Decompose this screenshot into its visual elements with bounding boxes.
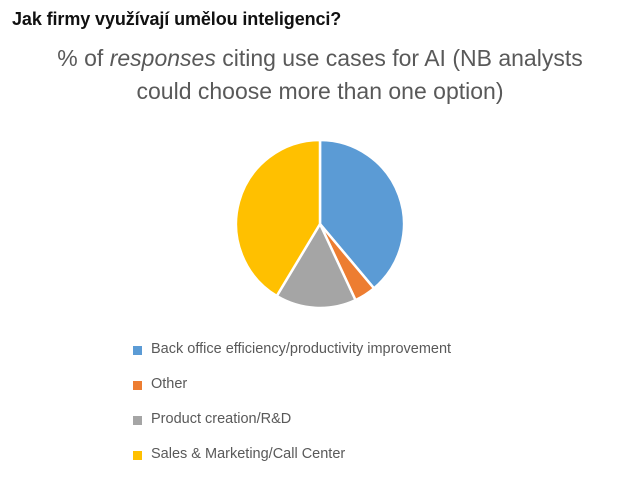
- legend-item-label: Product creation/R&D: [151, 411, 291, 428]
- legend-item[interactable]: Back office efficiency/productivity impr…: [0, 332, 640, 367]
- chart-title-line-1-post: citing use cases for AI (NB analysts: [216, 45, 583, 71]
- chart-title-emphasis: responses: [110, 45, 216, 71]
- legend-item[interactable]: Sales & Marketing/Call Center: [0, 437, 640, 472]
- chart-title-line-1-pre: % of: [57, 45, 109, 71]
- legend-item-label: Other: [151, 376, 187, 393]
- pie-chart: [0, 126, 640, 322]
- chart-legend: Back office efficiency/productivity impr…: [0, 332, 640, 472]
- legend-item-label: Sales & Marketing/Call Center: [151, 446, 345, 463]
- legend-item-label: Back office efficiency/productivity impr…: [151, 341, 451, 358]
- legend-swatch-icon: [133, 381, 142, 390]
- chart-title-line-1: % of responses citing use cases for AI (…: [18, 42, 622, 75]
- pie-slice-group: [236, 140, 404, 308]
- legend-item[interactable]: Other: [0, 367, 640, 402]
- legend-swatch-icon: [133, 451, 142, 460]
- legend-swatch-icon: [133, 346, 142, 355]
- chart-title: % of responses citing use cases for AI (…: [18, 42, 622, 108]
- slide-title: Jak firmy využívají umělou inteligenci?: [12, 8, 628, 30]
- pie-chart-svg: [220, 126, 420, 322]
- legend-item[interactable]: Product creation/R&D: [0, 402, 640, 437]
- legend-swatch-icon: [133, 416, 142, 425]
- chart-title-line-2: could choose more than one option): [18, 75, 622, 108]
